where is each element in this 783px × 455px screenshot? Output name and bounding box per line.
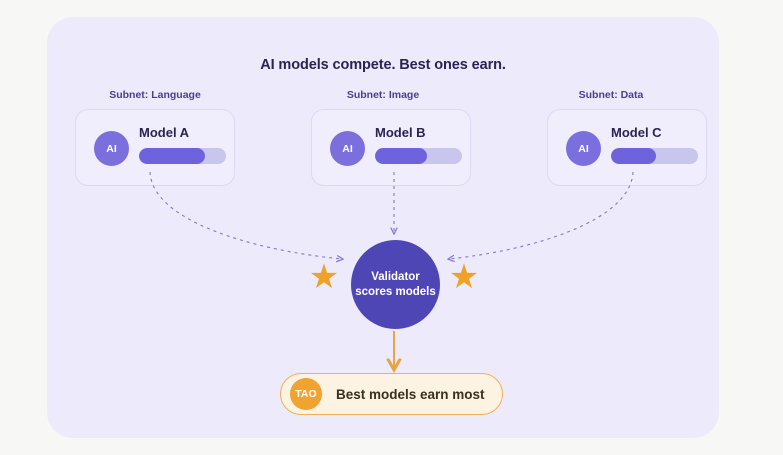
score-bar-a xyxy=(139,148,226,164)
star-icon-right: ★ xyxy=(448,261,480,293)
model-name-b: Model B xyxy=(375,125,426,140)
tao-token-icon: TAO xyxy=(290,378,322,410)
subnet-label-data: Subnet: Data xyxy=(511,89,711,101)
reward-pill[interactable]: TAO Best models earn most xyxy=(280,373,503,415)
score-bar-fill-a xyxy=(139,148,205,164)
model-card-b[interactable]: AI Model B xyxy=(311,109,471,186)
ai-avatar-icon: AI xyxy=(94,131,129,166)
model-name-c: Model C xyxy=(611,125,662,140)
validator-line-2: scores models xyxy=(355,285,436,300)
model-card-a[interactable]: AI Model A xyxy=(75,109,235,186)
ai-avatar-icon: AI xyxy=(330,131,365,166)
star-icon-left: ★ xyxy=(308,261,340,293)
score-bar-c xyxy=(611,148,698,164)
validator-node[interactable]: Validator scores models xyxy=(351,240,440,329)
score-bar-b xyxy=(375,148,462,164)
model-name-a: Model A xyxy=(139,125,189,140)
subnet-label-image: Subnet: Image xyxy=(283,89,483,101)
diagram-canvas: AI models compete. Best ones earn. Subne… xyxy=(0,0,783,455)
ai-avatar-icon: AI xyxy=(566,131,601,166)
reward-label: Best models earn most xyxy=(336,387,485,402)
validator-line-1: Validator xyxy=(371,270,420,285)
subnet-label-language: Subnet: Language xyxy=(55,89,255,101)
score-bar-fill-c xyxy=(611,148,656,164)
score-bar-fill-b xyxy=(375,148,427,164)
page-title: AI models compete. Best ones earn. xyxy=(47,57,719,73)
model-card-c[interactable]: AI Model C xyxy=(547,109,707,186)
